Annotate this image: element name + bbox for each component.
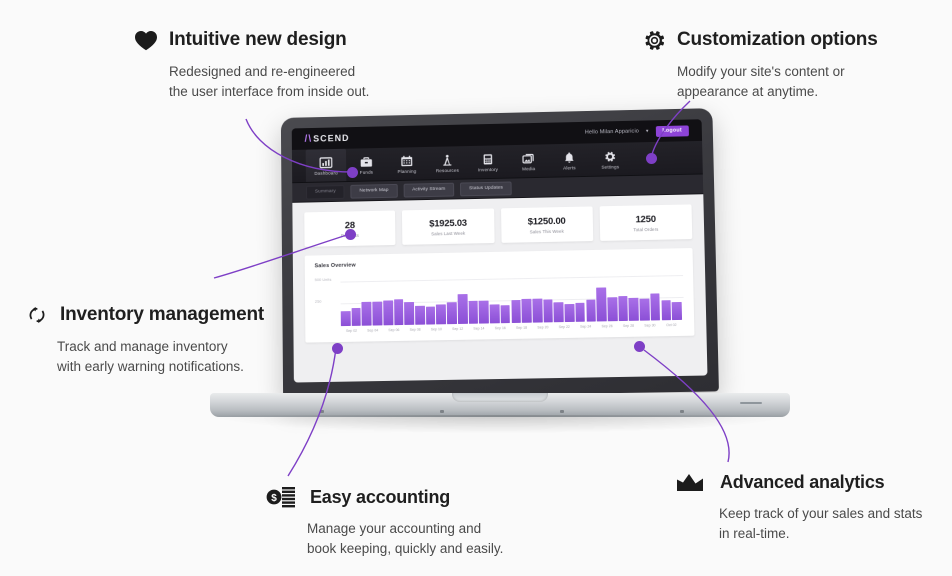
feature-title: Intuitive new design (169, 29, 347, 51)
x-axis-tick: Sep 08 (405, 328, 426, 332)
feature-showcase-page: Intuitive new design Redesigned and re-e… (0, 0, 952, 576)
user-greeting: Hello Milan Apparicio (585, 129, 639, 136)
tab-network-map[interactable]: Network Map (351, 183, 398, 198)
kpi-value: 1250 (635, 214, 656, 225)
laptop-mockup: /\SCEND Hello Milan Apparicio ▾ Logout D… (210, 110, 790, 440)
nav-label: Media (522, 166, 535, 171)
laptop-lid: /\SCEND Hello Milan Apparicio ▾ Logout D… (281, 108, 719, 398)
logo-mark: /\ (305, 133, 313, 144)
feature-header: Customization options (641, 27, 878, 53)
nav-item-alerts[interactable]: Alerts (549, 143, 590, 176)
feature-title: Advanced analytics (720, 472, 884, 493)
bell-icon (563, 150, 576, 164)
kpi-value: $1250.00 (528, 215, 566, 227)
kpi-card-total-orders[interactable]: 1250 Total Orders (599, 204, 692, 241)
connector-dot-customization (646, 153, 657, 164)
feature-advanced-analytics: Advanced analytics Keep track of your sa… (676, 469, 922, 543)
y-axis-tick-250: 250 (315, 300, 322, 304)
nav-item-inventory[interactable]: Inventory (467, 145, 508, 178)
nav-label: Dashboard (314, 170, 338, 175)
gear-icon (603, 149, 616, 163)
kpi-row: 28 Products $1925.03 Sales Last Week $12… (304, 204, 692, 246)
nav-item-dashboard[interactable]: Dashboard (306, 149, 347, 182)
feature-title: Inventory management (60, 304, 264, 326)
box-icon (481, 151, 494, 165)
briefcase-icon (360, 154, 373, 168)
nav-item-planning[interactable]: Planning (386, 147, 427, 180)
feature-easy-accounting: $ Easy accounting Manage your accounting… (266, 484, 503, 558)
sync-arrows-icon (24, 302, 50, 328)
feature-description: Modify your site's content or appearance… (677, 62, 878, 101)
kpi-label: Sales This Week (530, 228, 564, 234)
tab-activity-stream[interactable]: Activity Stream (403, 182, 454, 197)
x-axis-tick: Sep 02 (341, 329, 362, 333)
feature-description: Track and manage inventory with early wa… (57, 337, 264, 376)
feature-customization-options: Customization options Modify your site's… (641, 27, 878, 101)
x-axis-tick: Sep 22 (554, 325, 575, 329)
x-axis-tick: Sep 12 (447, 327, 468, 331)
feature-header: Intuitive new design (133, 27, 369, 53)
feature-inventory-management: Inventory management Track and manage in… (24, 302, 264, 376)
tower-icon (441, 152, 454, 166)
logo-text: SCEND (313, 133, 349, 144)
kpi-card-sales-last-week[interactable]: $1925.03 Sales Last Week (402, 208, 494, 244)
topbar-right-group: Hello Milan Apparicio ▾ Logout (585, 125, 689, 138)
dashboard-content: 28 Products $1925.03 Sales Last Week $12… (292, 194, 707, 382)
x-axis-tick: Sep 06 (383, 328, 404, 332)
x-axis-tick: Sep 26 (596, 324, 617, 328)
photos-icon (522, 150, 535, 164)
feature-title: Easy accounting (310, 487, 450, 508)
gear-icon (641, 27, 667, 53)
feature-header: Advanced analytics (676, 469, 922, 495)
nav-item-media[interactable]: Media (508, 144, 549, 177)
heart-icon (133, 27, 159, 53)
app-logo: /\SCEND (305, 133, 350, 145)
x-axis-tick: Sep 14 (468, 326, 489, 330)
nav-item-resources[interactable]: Resources (427, 146, 468, 179)
sales-chart: 500 Units 250 Sep 02Sep 04Sep 06Sep 08Se… (315, 267, 685, 335)
connector-dot-design (347, 167, 358, 178)
connector-dot-accounting (332, 343, 343, 354)
calendar-icon (400, 153, 413, 167)
svg-text:$: $ (271, 493, 277, 504)
nav-label: Alerts (563, 165, 576, 170)
feature-description: Manage your accounting and book keeping,… (307, 519, 503, 558)
x-axis-tick: Sep 16 (490, 326, 511, 330)
kpi-label: Total Orders (633, 226, 658, 231)
x-axis-tick: Sep 10 (426, 327, 447, 331)
feature-description: Keep track of your sales and stats in re… (719, 504, 922, 543)
nav-label: Planning (397, 169, 416, 174)
sales-overview-card: Sales Overview 500 Units 250 Sep 02Sep 0… (305, 248, 695, 343)
money-invoice-icon: $ (266, 484, 296, 510)
connector-dot-analytics (634, 341, 645, 352)
x-axis-tick: Oct 02 (661, 323, 683, 327)
x-axis-tick: Sep 20 (532, 325, 553, 329)
x-axis-tick: Sep 04 (362, 328, 383, 332)
tab-status-updates[interactable]: Status Updates (460, 181, 512, 196)
feature-intuitive-new-design: Intuitive new design Redesigned and re-e… (133, 27, 369, 101)
nav-label: Funds (360, 170, 373, 175)
nav-label: Settings (601, 164, 619, 169)
kpi-card-sales-this-week[interactable]: $1250.00 Sales This Week (501, 206, 593, 242)
kpi-value: $1925.03 (429, 217, 467, 229)
feature-description: Redesigned and re-engineered the user in… (169, 62, 369, 101)
laptop-shadow (216, 415, 784, 433)
nav-item-settings[interactable]: Settings (589, 142, 630, 175)
x-axis-tick: Sep 30 (639, 323, 661, 327)
kpi-label: Sales Last Week (431, 230, 465, 236)
x-axis-tick: Sep 24 (575, 324, 596, 328)
chart-icon (319, 155, 332, 169)
bar-chart-icon (676, 469, 704, 495)
nav-label: Resources (436, 168, 459, 173)
x-axis-tick: Sep 28 (618, 324, 640, 328)
feature-header: $ Easy accounting (266, 484, 503, 510)
feature-title: Customization options (677, 29, 878, 51)
feature-header: Inventory management (24, 302, 264, 328)
tab-summary[interactable]: Summary (306, 185, 345, 200)
chevron-down-icon[interactable]: ▾ (646, 128, 649, 134)
nav-label: Inventory (478, 167, 498, 172)
x-axis-tick: Sep 18 (511, 326, 532, 330)
y-axis-tick-500: 500 Units (315, 278, 332, 282)
connector-dot-inventory (345, 229, 356, 240)
logout-button[interactable]: Logout (655, 125, 689, 137)
